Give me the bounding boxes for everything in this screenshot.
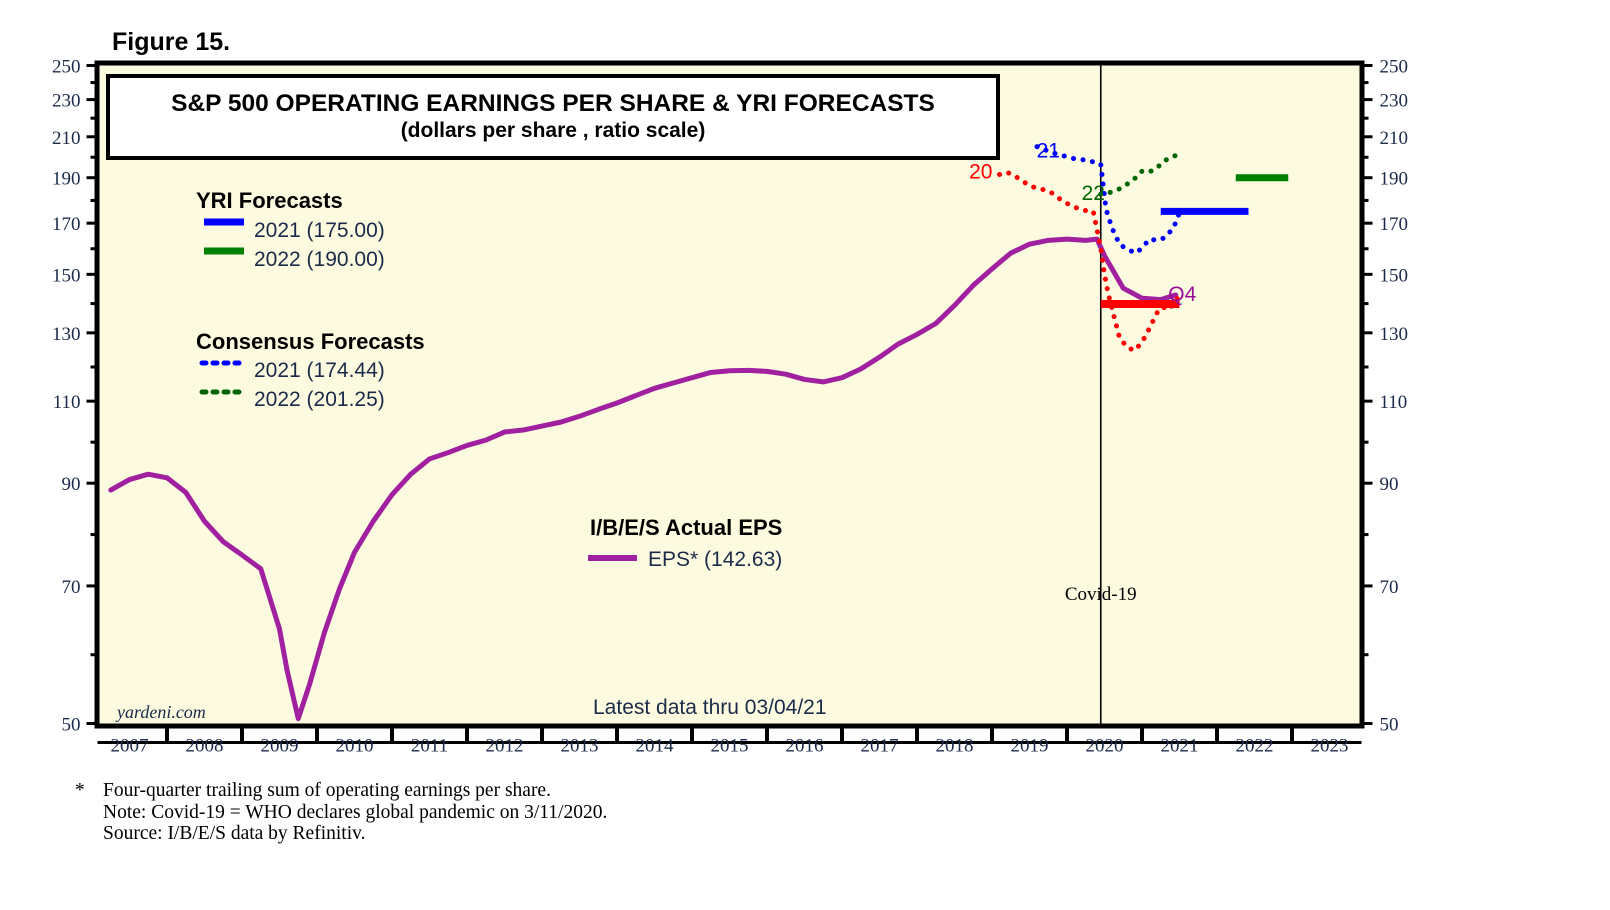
legend-label-yri-2022: 2022 (190.00) [254,248,385,271]
svg-text:250: 250 [52,57,81,78]
legend-actual-heading: I/B/E/S Actual EPS [590,515,782,540]
legend-label-yri-2021: 2021 (175.00) [254,219,385,242]
svg-text:90: 90 [1380,474,1399,495]
svg-text:2010: 2010 [336,736,374,757]
svg-text:150: 150 [1380,265,1409,286]
footnote-line-3: Source: I/B/E/S data by Refinitiv. [75,823,607,845]
footnote-text-2: Note: Covid-19 = WHO declares global pan… [103,802,607,823]
svg-text:20: 20 [969,160,992,183]
svg-text:230: 230 [52,91,81,112]
footnote-line-1: *Four-quarter trailing sum of operating … [75,780,607,802]
svg-text:210: 210 [1380,128,1409,149]
svg-text:190: 190 [1380,169,1409,190]
svg-text:170: 170 [1380,214,1409,235]
svg-text:2018: 2018 [936,736,974,757]
svg-text:2013: 2013 [561,736,599,757]
svg-text:130: 130 [52,324,81,345]
eps-chart: 250230210190170150130110907050 250230210… [0,0,1610,910]
svg-text:2009: 2009 [261,736,299,757]
x-axis-labels: 2007200820092010201120122013201420152016… [111,736,1349,757]
svg-text:2019: 2019 [1011,736,1049,757]
svg-text:250: 250 [1380,57,1409,78]
svg-text:170: 170 [52,214,81,235]
svg-text:2014: 2014 [636,736,675,757]
svg-text:2008: 2008 [186,736,224,757]
chart-subtitle: (dollars per share , ratio scale) [401,119,706,142]
svg-text:2020: 2020 [1086,736,1124,757]
svg-text:190: 190 [52,169,81,190]
chart-title-box: S&P 500 OPERATING EARNINGS PER SHARE & Y… [108,76,998,158]
latest-data-label: Latest data thru 03/04/21 [593,696,827,719]
svg-text:22: 22 [1082,182,1105,205]
footnote-line-2: Note: Covid-19 = WHO declares global pan… [75,802,607,824]
svg-text:2017: 2017 [861,736,899,757]
y-axis-left-labels: 250230210190170150130110907050 [52,57,81,736]
svg-text:90: 90 [62,474,81,495]
footnote-text-3: Source: I/B/E/S data by Refinitiv. [103,823,366,844]
svg-text:70: 70 [62,577,81,598]
svg-text:21: 21 [1037,140,1060,163]
svg-text:2011: 2011 [411,736,448,757]
svg-text:150: 150 [52,265,81,286]
svg-text:70: 70 [1380,577,1399,598]
svg-text:2021: 2021 [1161,736,1199,757]
svg-text:110: 110 [53,392,81,413]
svg-text:2016: 2016 [786,736,824,757]
svg-text:2007: 2007 [111,736,149,757]
svg-text:130: 130 [1380,324,1409,345]
legend-label-consensus-2021: 2021 (174.44) [254,359,385,382]
svg-text:110: 110 [1380,392,1408,413]
svg-text:Covid-19: Covid-19 [1065,584,1137,605]
chart-title: S&P 500 OPERATING EARNINGS PER SHARE & Y… [171,90,935,117]
footnote-text-1: Four-quarter trailing sum of operating e… [103,780,551,801]
legend-yri-heading: YRI Forecasts [196,188,343,213]
svg-text:2012: 2012 [486,736,524,757]
svg-text:230: 230 [1380,91,1409,112]
watermark-label: yardeni.com [115,702,206,722]
footnote-star: * [75,780,103,802]
svg-text:50: 50 [1380,715,1399,736]
svg-text:2023: 2023 [1311,736,1349,757]
figure-container: Figure 15. 25023021019017015013011090705… [0,0,1610,910]
svg-text:50: 50 [62,715,81,736]
svg-text:2015: 2015 [711,736,749,757]
svg-text:2022: 2022 [1236,736,1274,757]
y-axis-right-labels: 250230210190170150130110907050 [1380,57,1409,736]
legend-label-consensus-2022: 2022 (201.25) [254,388,385,411]
svg-text:210: 210 [52,128,81,149]
svg-text:Q4: Q4 [1168,283,1196,306]
footnotes: *Four-quarter trailing sum of operating … [75,780,607,845]
legend-consensus-heading: Consensus Forecasts [196,329,425,354]
legend-label-eps: EPS* (142.63) [648,548,782,571]
